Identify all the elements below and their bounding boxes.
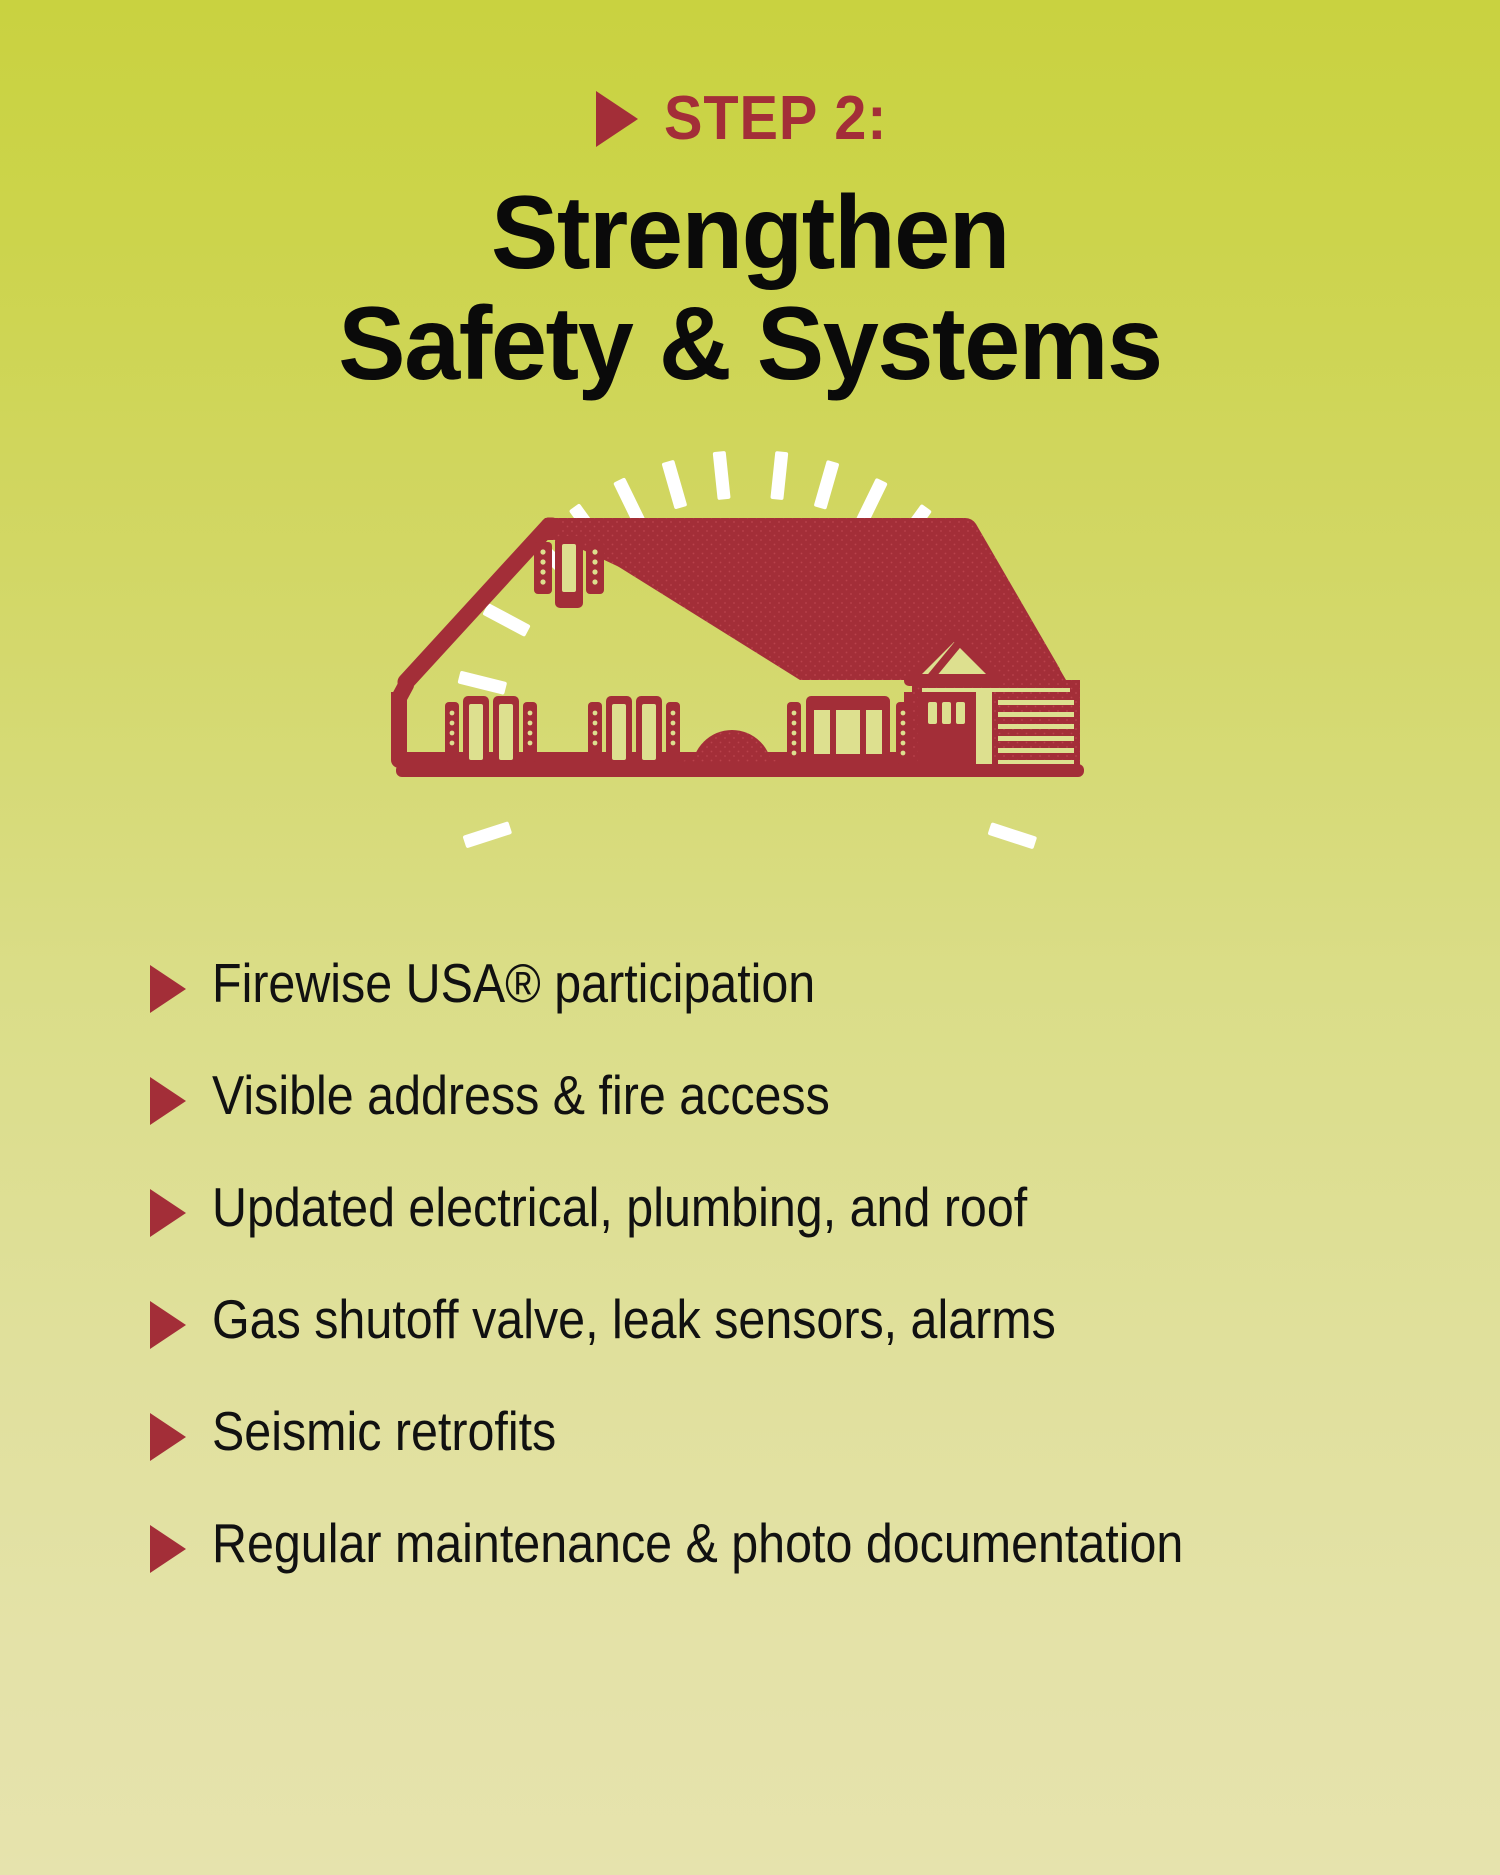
title-line-2: Safety & Systems [23, 289, 1478, 400]
house-base [396, 764, 1084, 777]
list-item-label: Updated electrical, plumbing, and roof [212, 1179, 1027, 1237]
right-triangle-icon [150, 1189, 186, 1237]
right-triangle-icon [150, 1413, 186, 1461]
garage-door [992, 692, 1080, 772]
house-with-rays-icon [300, 430, 1200, 860]
right-triangle-icon [150, 1077, 186, 1125]
infographic-poster: STEP 2: Strengthen Safety & Systems [0, 0, 1500, 1875]
right-triangle-icon [596, 91, 638, 147]
attic-vent-window [534, 536, 604, 608]
list-item: Gas shutoff valve, leak sensors, alarms [150, 1291, 1410, 1349]
right-triangle-icon [150, 965, 186, 1013]
wall-left-corner [399, 685, 406, 698]
right-triangle-icon [150, 1525, 186, 1573]
list-item-label: Visible address & fire access [212, 1067, 830, 1125]
gable-edge-left [406, 526, 549, 682]
list-item-label: Seismic retrofits [212, 1403, 556, 1461]
list-item-label: Regular maintenance & photo documentatio… [212, 1515, 1183, 1573]
list-item: Regular maintenance & photo documentatio… [150, 1515, 1410, 1573]
step-eyebrow: STEP 2: [0, 88, 1500, 150]
title-line-1: Strengthen [23, 178, 1478, 289]
list-item: Visible address & fire access [150, 1067, 1410, 1125]
step-label: STEP 2: [664, 88, 887, 150]
list-item: Updated electrical, plumbing, and roof [150, 1179, 1410, 1237]
list-item: Firewise USA® participation [150, 955, 1410, 1013]
list-item-label: Firewise USA® participation [212, 955, 815, 1013]
feature-list: Firewise USA® participation Visible addr… [150, 955, 1410, 1573]
front-door [916, 692, 978, 776]
page-title: Strengthen Safety & Systems [0, 178, 1500, 401]
list-item: Seismic retrofits [150, 1403, 1410, 1461]
right-triangle-icon [150, 1301, 186, 1349]
list-item-label: Gas shutoff valve, leak sensors, alarms [212, 1291, 1056, 1349]
house-group [396, 518, 1084, 777]
